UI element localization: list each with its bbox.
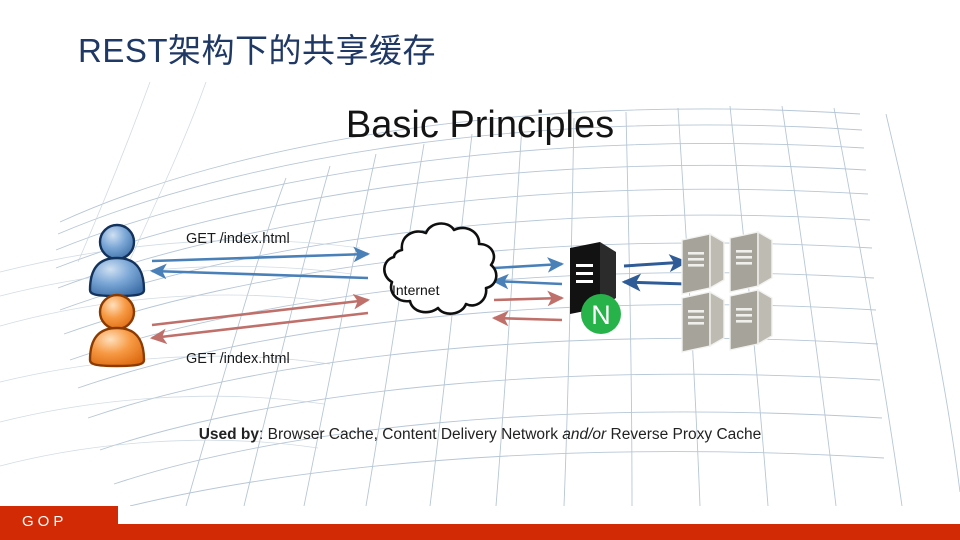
nginx-badge-letter: N: [591, 300, 611, 330]
flow-blue-response: [152, 271, 368, 278]
diagram-caption: Used by: Browser Cache, Content Delivery…: [0, 426, 960, 444]
origin-server-farm-icons: [682, 232, 772, 352]
footer-brand-text: GOP: [22, 513, 67, 530]
internet-cloud-label: Internet: [392, 282, 439, 298]
internet-cloud-shape: [384, 224, 496, 314]
flow-red-response: [152, 313, 368, 338]
caption-separator: :: [259, 426, 268, 443]
flow-red-request: [152, 300, 368, 325]
flow-cloud-to-cache-blue: [494, 264, 562, 268]
flow-cache-to-cloud-red: [494, 318, 562, 320]
flow-cloud-to-cache-red: [494, 298, 562, 300]
flow-origin-to-cache: [624, 282, 686, 284]
flow-cache-to-origin: [624, 262, 686, 266]
server-tower: [682, 292, 724, 352]
client-blue-avatar: [90, 225, 144, 296]
caption-body-1: Browser Cache, Content Delivery Network: [268, 426, 563, 443]
diagram-image: Basic Principles: [0, 82, 960, 506]
caption-emphasis: and/or: [562, 426, 606, 443]
slide-canvas: GOP REST架构下的共享缓存: [0, 0, 960, 540]
nginx-cache-server-icon: N: [570, 242, 621, 334]
server-tower: [682, 234, 724, 294]
flow-blue-request: [152, 254, 368, 261]
label-get-request-top: GET /index.html: [186, 231, 290, 247]
page-title: REST架构下的共享缓存: [78, 24, 436, 72]
server-tower: [730, 290, 772, 350]
client-orange-avatar: [90, 295, 144, 366]
caption-lead: Used by: [199, 426, 259, 443]
server-tower: [730, 232, 772, 292]
label-get-request-bottom: GET /index.html: [186, 351, 290, 367]
caption-body-2: Reverse Proxy Cache: [606, 426, 761, 443]
flow-cache-to-cloud-blue: [494, 281, 562, 284]
